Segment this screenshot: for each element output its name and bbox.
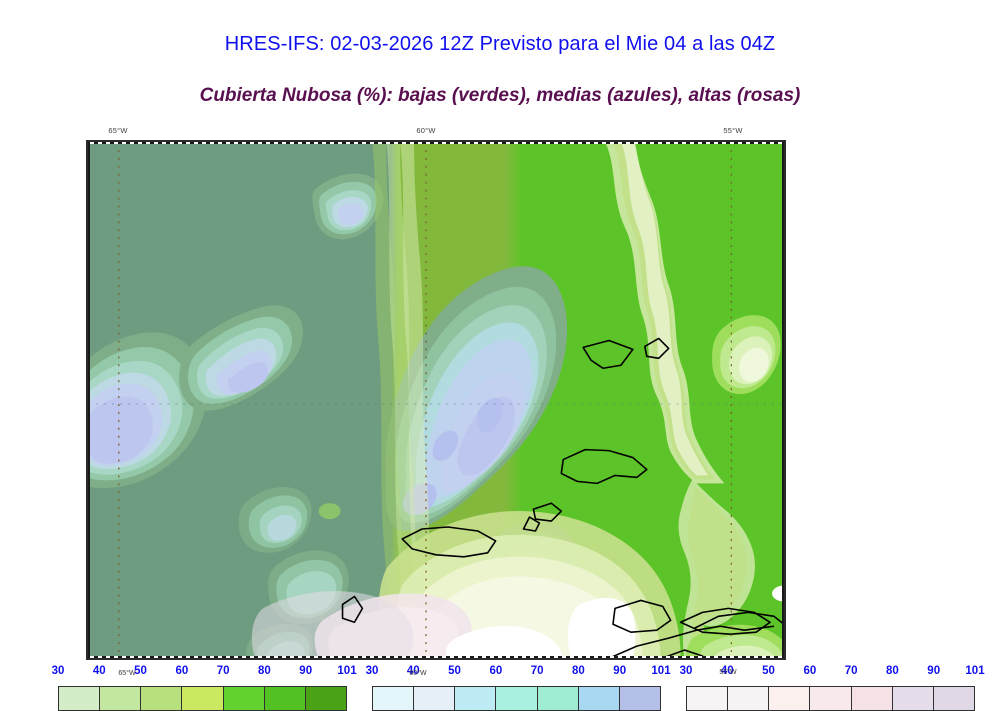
colorbar-medias-tick-101: 101 <box>651 665 670 677</box>
colorbar-medias-tick-30: 30 <box>366 665 379 677</box>
colorbar-medias-tick-50: 50 <box>448 665 461 677</box>
longitude-label-2: 55°W <box>723 126 742 135</box>
colorbar-bajas-tick-80: 80 <box>258 665 271 677</box>
colorbar-medias-swatches[interactable] <box>372 686 661 711</box>
colorbar-bajas-tick-70: 70 <box>217 665 230 677</box>
colorbar-altas-swatches[interactable] <box>686 686 975 711</box>
colorbar-medias-tick-80: 80 <box>572 665 585 677</box>
colorbar-altas-tick-50: 50 <box>762 665 775 677</box>
colorbar-bajas-tick-30: 30 <box>52 665 65 677</box>
stray-longitude-label-2: 55°W <box>719 669 736 676</box>
map-plot-area[interactable] <box>86 140 786 660</box>
stray-longitude-label-1: 60°W <box>409 670 426 677</box>
page-subtitle: Cubierta Nubosa (%): bajas (verdes), med… <box>0 85 1000 107</box>
longitude-label-1: 60°W <box>416 126 435 135</box>
colorbar-altas-tick-30: 30 <box>680 665 693 677</box>
colorbar-bajas-tick-60: 60 <box>175 665 188 677</box>
page-title: HRES-IFS: 02-03-2026 12Z Previsto para e… <box>0 33 1000 56</box>
colorbar-bajas-tick-40: 40 <box>93 665 106 677</box>
colorbar-bajas[interactable]: 30405060708090101 <box>58 665 347 711</box>
longitude-label-0: 65°W <box>108 126 127 135</box>
colorbar-altas-tick-70: 70 <box>845 665 858 677</box>
colorbar-medias-tick-70: 70 <box>531 665 544 677</box>
colorbar-medias-tick-60: 60 <box>489 665 502 677</box>
colorbar-altas-tick-101: 101 <box>965 665 984 677</box>
stray-longitude-label-0: 65°W <box>118 670 135 677</box>
cloud-cover-map[interactable] <box>86 140 786 660</box>
colorbar-altas-tick-90: 90 <box>927 665 940 677</box>
colorbar-medias-tick-90: 90 <box>613 665 626 677</box>
colorbar-altas-tick-60: 60 <box>803 665 816 677</box>
map-contour-layer <box>88 142 784 658</box>
colorbar-bajas-tick-101: 101 <box>337 665 356 677</box>
colorbar-bajas-tick-90: 90 <box>299 665 312 677</box>
colorbar-altas-tick-80: 80 <box>886 665 899 677</box>
colorbar-bajas-tick-50: 50 <box>134 665 147 677</box>
colorbar-bajas-ticks: 30405060708090101 <box>58 665 347 681</box>
colorbar-bajas-swatches[interactable] <box>58 686 347 711</box>
